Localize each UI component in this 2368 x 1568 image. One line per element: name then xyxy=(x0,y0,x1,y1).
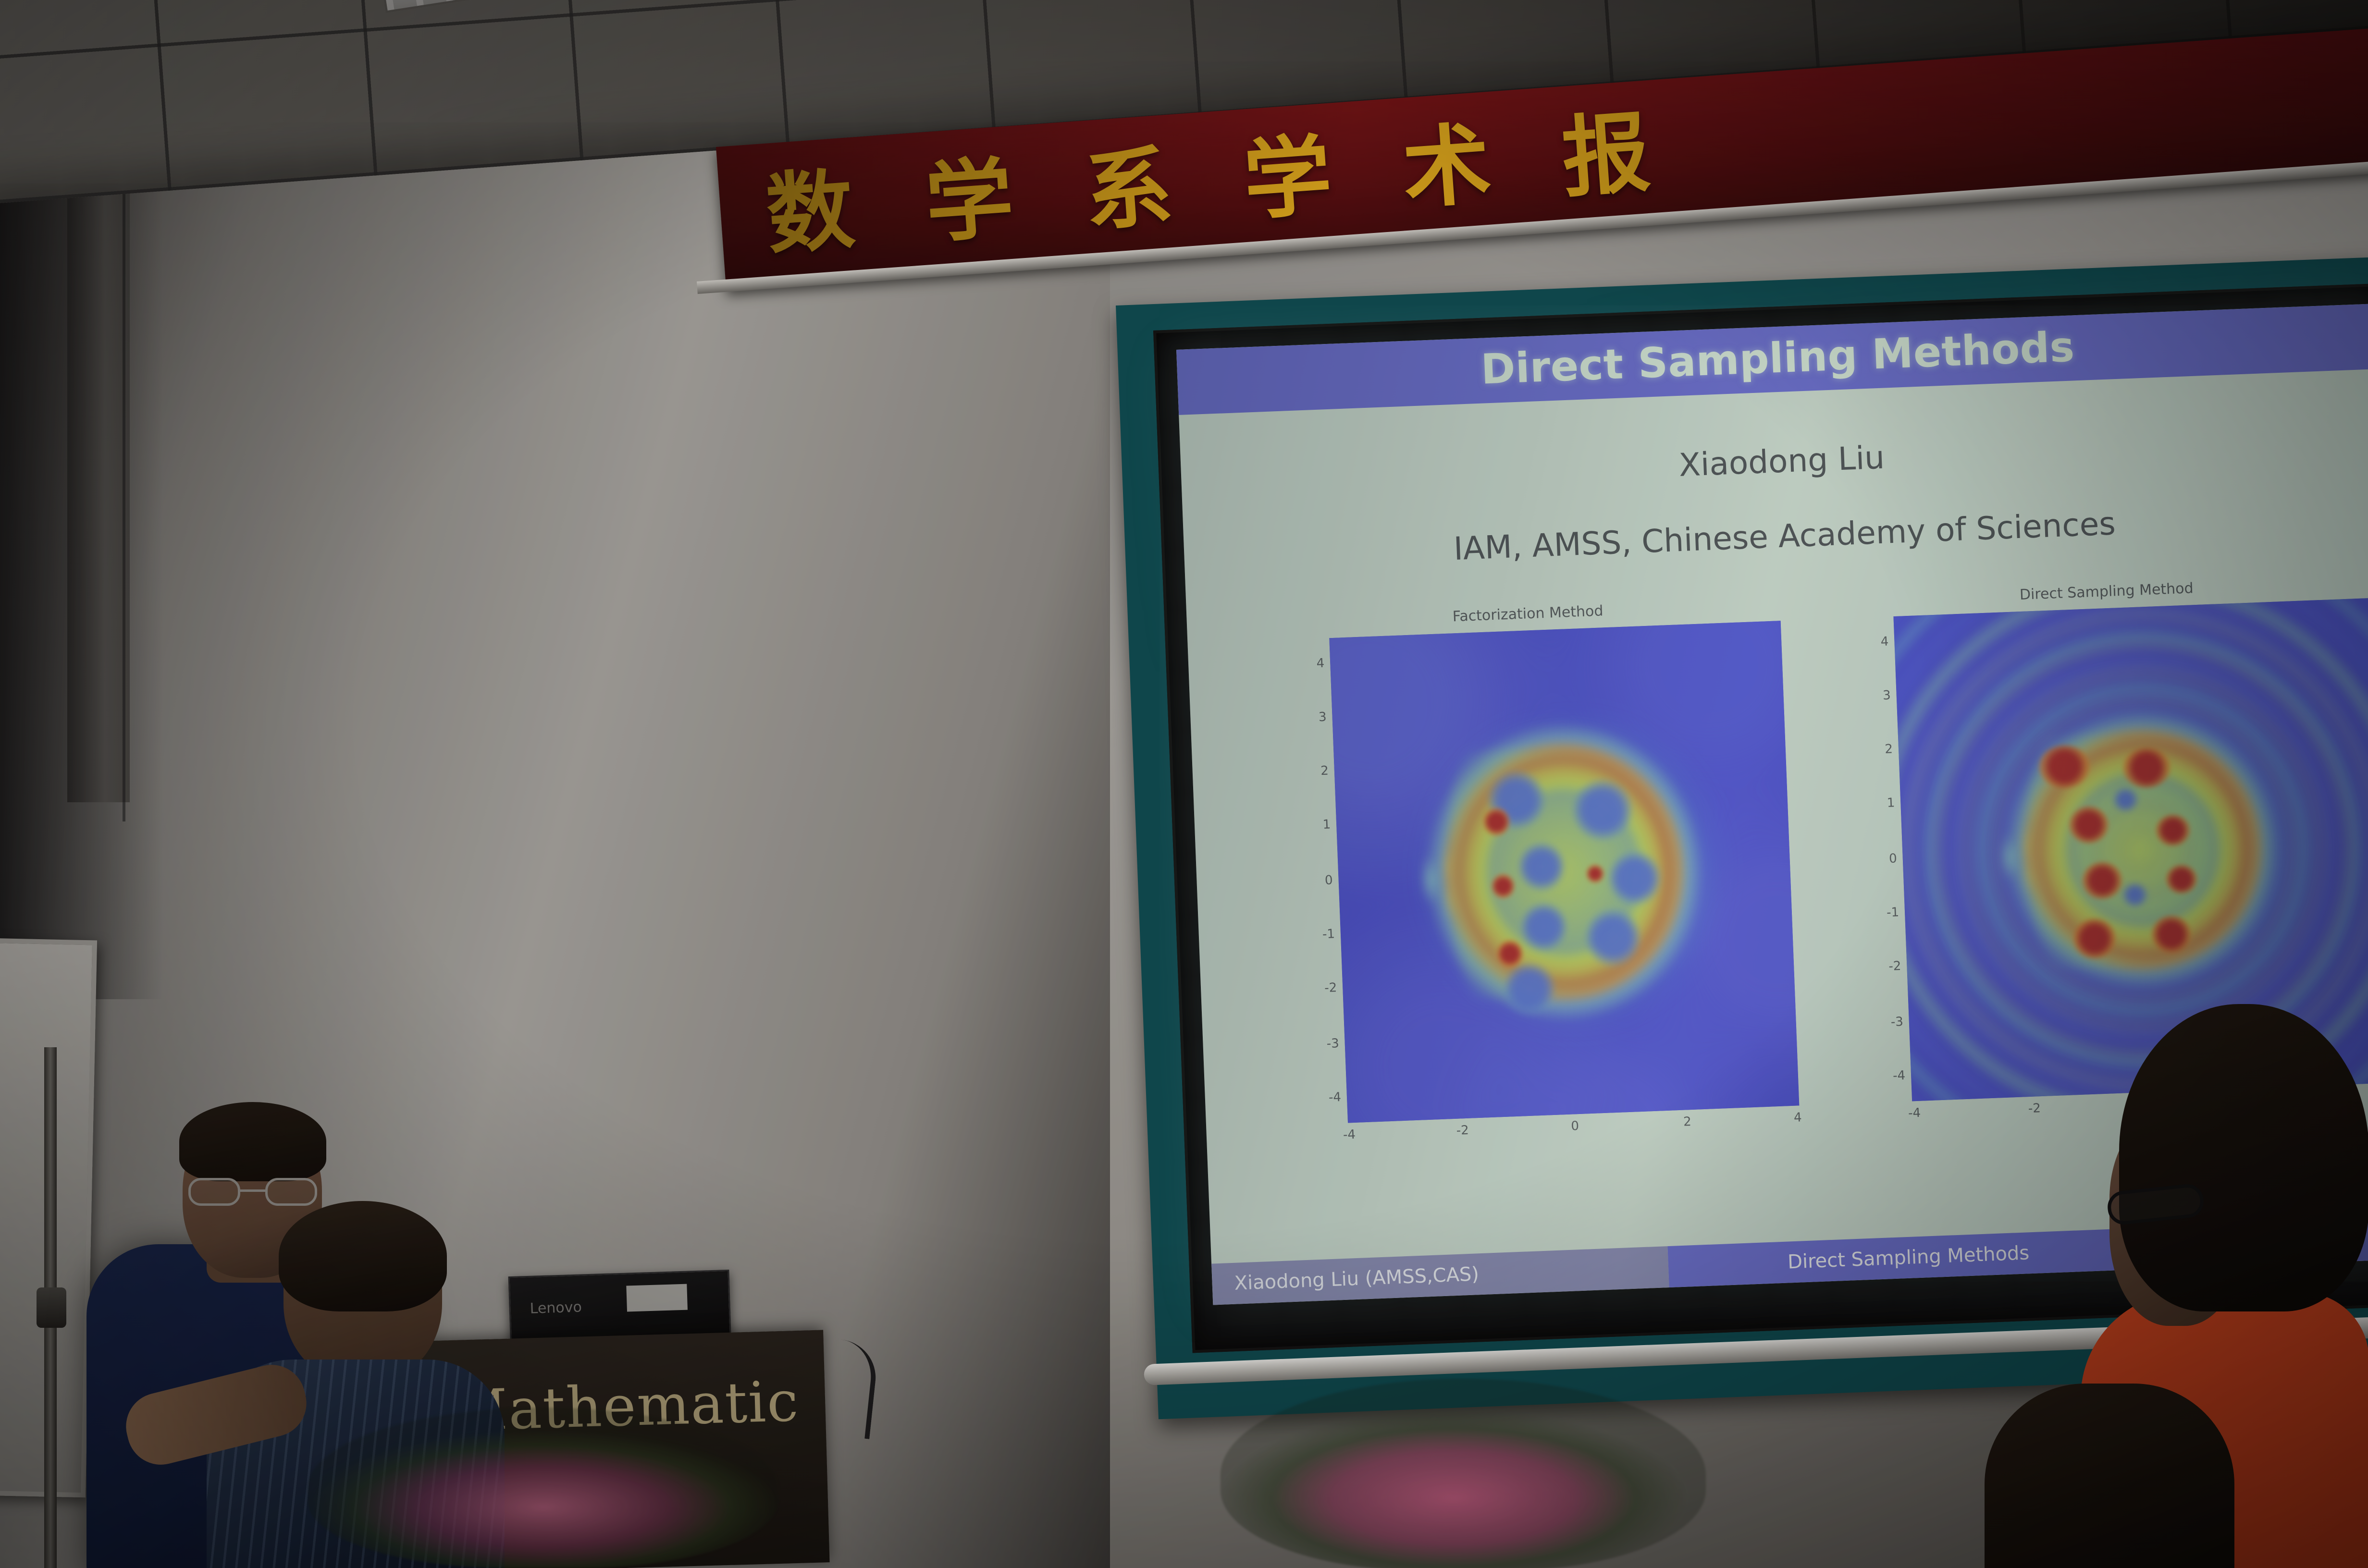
floral-arrangement-left xyxy=(308,1408,778,1568)
slide-affiliation: IAM, AMSS, Chinese Academy of Sciences xyxy=(1184,495,2368,578)
ytick-right-4: 4 xyxy=(1869,635,1889,650)
lecture-room-photo: 数 学 系 学 术 报 Direct Sampling Methods Xiao… xyxy=(0,0,2368,1568)
heatmap-factorization xyxy=(1329,621,1799,1123)
xtick-left-m4: -4 xyxy=(1343,1127,1356,1142)
presenter-hair xyxy=(179,1102,326,1181)
slide-author: Xiaodong Liu xyxy=(1181,420,2368,503)
ytick-left-m3: -3 xyxy=(1320,1036,1339,1052)
ytick-left-3: 3 xyxy=(1307,710,1327,725)
ytick-right-m4: -4 xyxy=(1886,1068,1906,1084)
xtick-left-2: 2 xyxy=(1683,1115,1692,1129)
ytick-left-m2: -2 xyxy=(1318,980,1337,996)
footer-author: Xiaodong Liu (AMSS,CAS) xyxy=(1234,1263,1480,1295)
ytick-left-4: 4 xyxy=(1305,656,1325,672)
laptop-brand-label: Lenovo xyxy=(530,1298,582,1317)
audience-right-lower-head xyxy=(1985,1384,2234,1568)
ytick-right-2: 2 xyxy=(1873,742,1893,757)
xtick-left-0: 0 xyxy=(1571,1119,1579,1134)
laptop-sticker xyxy=(626,1284,688,1312)
ytick-left-2: 2 xyxy=(1309,763,1329,779)
seated-hair xyxy=(279,1201,447,1311)
xtick-right-m4: -4 xyxy=(1908,1106,1921,1121)
ytick-left-m4: -4 xyxy=(1321,1090,1341,1105)
ytick-right-m3: -3 xyxy=(1884,1015,1903,1030)
ytick-right-m2: -2 xyxy=(1882,959,1901,974)
audience-right-hair xyxy=(2119,1004,2368,1311)
wall-shadow xyxy=(0,86,163,999)
ytick-left-m1: -1 xyxy=(1315,927,1335,942)
ytick-left-0: 0 xyxy=(1313,873,1333,888)
figure-factorization-method: Factorization Method 4 3 2 1 0 -1 -2 -3 … xyxy=(1256,595,1820,1183)
ytick-right-0: 0 xyxy=(1877,851,1897,867)
ytick-right-3: 3 xyxy=(1871,688,1891,703)
ytick-left-1: 1 xyxy=(1311,817,1331,833)
whiteboard-adjust-knob xyxy=(37,1287,66,1328)
ytick-right-m1: -1 xyxy=(1880,905,1899,920)
xtick-left-m2: -2 xyxy=(1456,1123,1469,1138)
footer-title: Direct Sampling Methods xyxy=(1787,1242,2030,1273)
xtick-right-m2: -2 xyxy=(2028,1101,2041,1116)
xtick-left-4: 4 xyxy=(1793,1110,1802,1125)
ytick-right-1: 1 xyxy=(1875,796,1895,811)
floral-arrangement-right xyxy=(1221,1379,1706,1568)
